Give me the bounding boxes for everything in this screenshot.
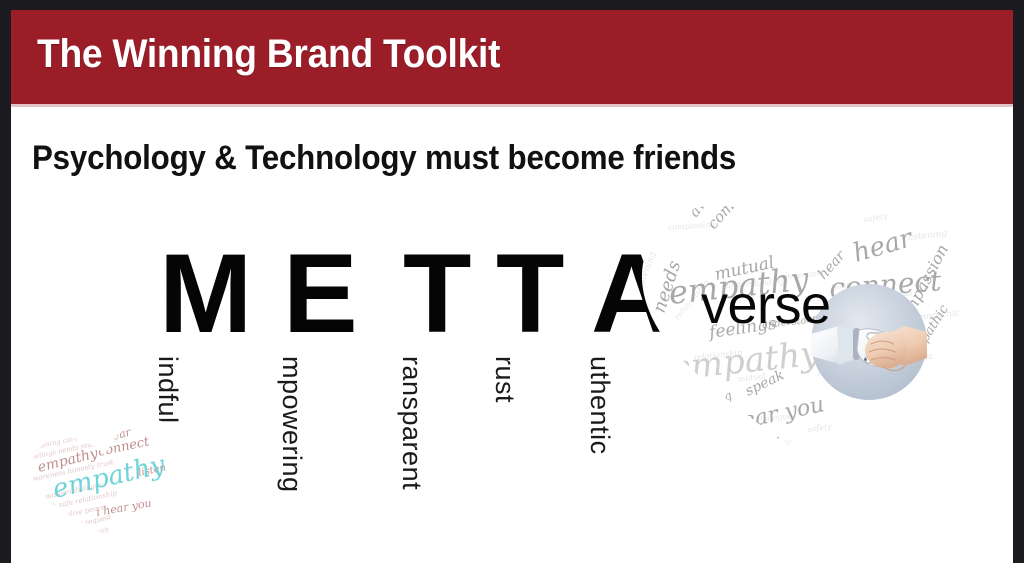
svg-text:understanding kindness: understanding kindness	[32, 416, 118, 442]
slide-outer-frame: The Winning Brand Toolkit Psychology & T…	[0, 0, 1024, 563]
acronym-letter-m: M	[159, 238, 269, 350]
acronym-word-empowering: mpowering	[276, 356, 307, 493]
acronym-word-authentic: uthentic	[584, 356, 615, 455]
acronym-letter-t2: T	[496, 238, 606, 350]
svg-text:awareness: awareness	[737, 179, 792, 199]
rose-empathy-heart-image: understanding kindness listening care co…	[27, 406, 195, 556]
acronym-suffix-verse: verse	[701, 274, 831, 336]
acronym-word-transparent: ransparent	[396, 356, 427, 490]
page-title: The Winning Brand Toolkit	[37, 32, 500, 77]
svg-text:connect heart: connect heart	[60, 526, 110, 544]
acronym-letter-e: E	[283, 238, 393, 350]
svg-text:alive: alive	[737, 451, 781, 470]
acronym-word-trust: rust	[489, 356, 520, 403]
svg-text:giving: giving	[711, 429, 783, 466]
svg-text:honesty: honesty	[816, 188, 854, 207]
header-underline-rule	[11, 104, 1013, 107]
svg-text:heart: heart	[887, 395, 931, 440]
slide-canvas: The Winning Brand Toolkit Psychology & T…	[11, 10, 1013, 563]
